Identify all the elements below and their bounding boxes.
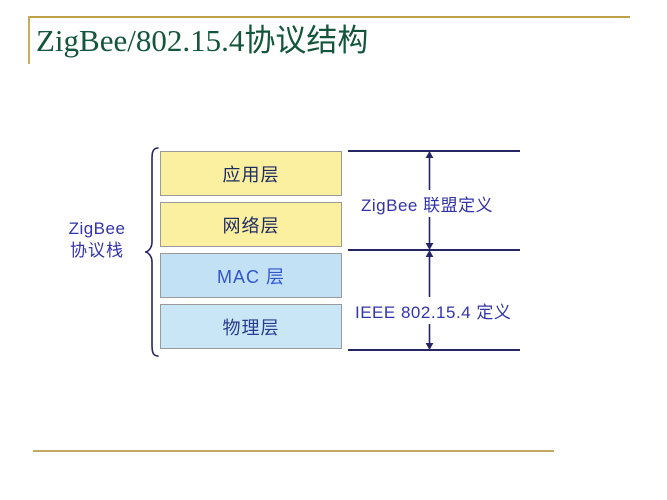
layer-box-application[interactable]: 应用层 xyxy=(160,151,342,196)
layer-label-mac: MAC 层 xyxy=(217,263,285,289)
stack-label: ZigBee 协议栈 xyxy=(52,218,142,262)
stack-label-line2: 协议栈 xyxy=(52,240,142,262)
layer-label-application: 应用层 xyxy=(223,161,280,187)
layer-box-mac[interactable]: MAC 层 xyxy=(160,253,342,298)
slide-canvas: ZigBee/802.15.4协议结构 ZigBee 协议栈 应用层 网络层 M… xyxy=(0,0,667,500)
annotation-ieee-defined: IEEE 802.15.4 定义 xyxy=(352,297,514,324)
layer-box-physical[interactable]: 物理层 xyxy=(160,304,342,349)
layer-box-network[interactable]: 网络层 xyxy=(160,202,342,247)
footer-rule xyxy=(33,450,554,452)
protocol-stack-diagram: ZigBee 协议栈 应用层 网络层 MAC 层 物理层 xyxy=(0,0,667,500)
layer-label-physical: 物理层 xyxy=(223,314,280,340)
curly-brace-icon xyxy=(144,146,160,358)
annotation-zigbee-alliance: ZigBee 联盟定义 xyxy=(358,190,496,217)
stack-label-line1: ZigBee xyxy=(52,218,142,240)
layer-label-network: 网络层 xyxy=(223,212,280,238)
